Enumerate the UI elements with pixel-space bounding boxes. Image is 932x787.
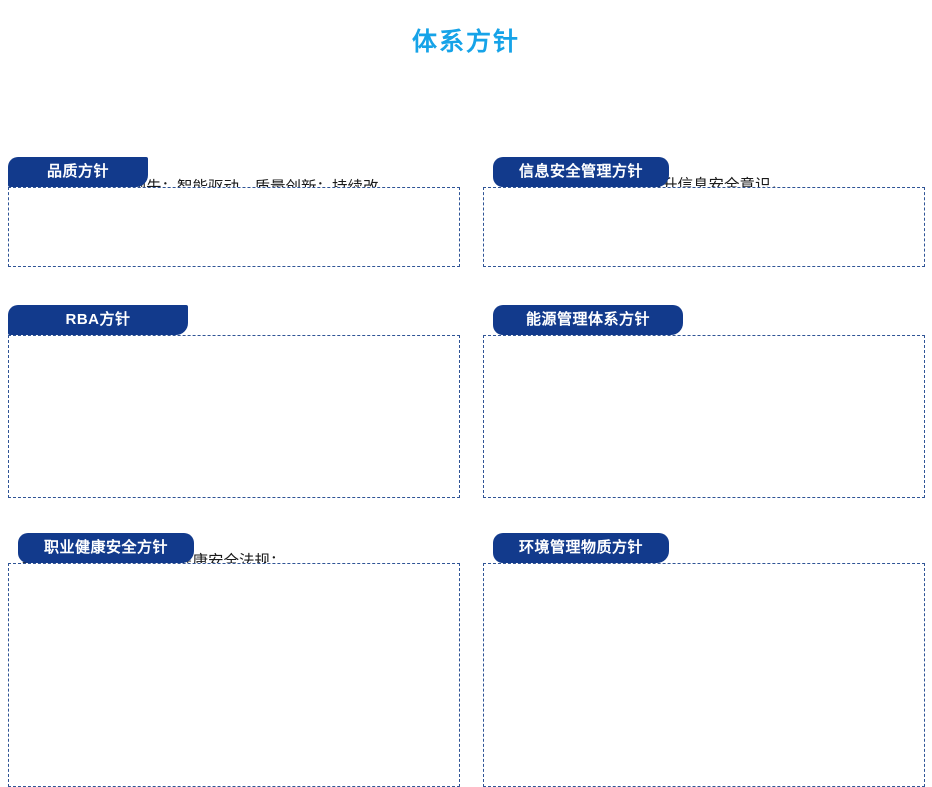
policy-card-environment-substance-badge: 环境管理物质方针 (493, 533, 669, 563)
policy-card-infosec-body (483, 187, 925, 267)
policy-card-occupational-health-safety-body (8, 563, 460, 787)
policy-card-rba-body (8, 335, 460, 498)
policy-card-infosec-badge: 信息安全管理方针 (493, 157, 669, 187)
policy-card-energy-badge: 能源管理体系方针 (493, 305, 683, 335)
policy-card-rba: RBA方针 守法经营，坚持造福服务社会； 环保节约，充分利用有限资源并持续改善；… (8, 305, 460, 498)
page-title: 体系方针 (0, 0, 932, 55)
policy-card-quality-badge: 品质方针 (8, 157, 148, 187)
policy-card-rba-badge: RBA方针 (8, 305, 188, 335)
policy-card-occupational-health-safety-badge: 职业健康安全方针 (18, 533, 194, 563)
policy-card-environment-substance-body (483, 563, 925, 787)
policy-card-energy-body (483, 335, 925, 498)
policy-card-quality-body (8, 187, 460, 267)
policy-card-environment-substance: 环境管理物质方针 事业活动符合有害物质相关法规及客户要求； 持续实行有害物质削减… (483, 533, 925, 787)
policy-card-quality: 品质方针 顾客导向，技术领先；智能驱动，质量创新；持续改 善，客户满意 (8, 157, 460, 267)
policy-card-occupational-health-safety: 职业健康安全方针 事业活动符合政府职业健康安全法规； 持续实行职业健康安全意识培… (8, 533, 460, 787)
policy-card-infosec: 信息安全管理方针 改进信息安全技术，提升信息安全意识， 严守信息安全策略，降低信… (483, 157, 925, 267)
policy-card-energy: 能源管理体系方针 规范用能管理，强化节能意识； 提高用能效率，降低能源消耗； 实… (483, 305, 925, 498)
